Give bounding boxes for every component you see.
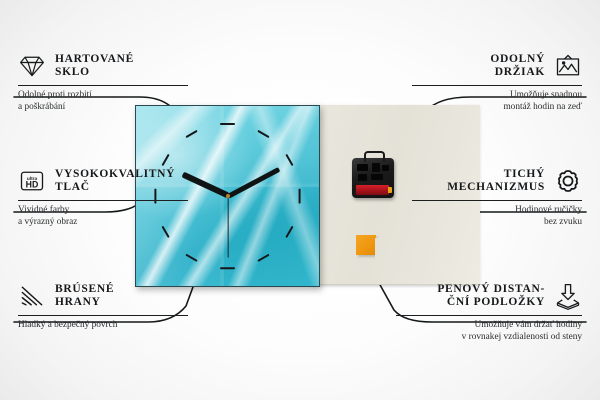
feature-title: VYSOKOKVALITNÝ TLAČ <box>55 168 175 195</box>
mechanism-slot <box>372 163 380 172</box>
feature-ground-edges: BRÚSENÉ HRANY Hladký a bezpečný povrch <box>18 282 188 332</box>
clock-mechanism <box>352 158 394 198</box>
feature-title: TICHÝ MECHANIZMUS <box>447 168 545 195</box>
feature-description: Hodinové ručičky bez zvuku <box>412 205 582 228</box>
feature-hardened-glass: HARTOVANÉ SKLO Odolné proti rozbití a po… <box>18 52 188 113</box>
feature-title-line: VYSOKOKVALITNÝ <box>55 168 175 182</box>
divider <box>18 200 188 201</box>
mechanism-slot <box>382 165 389 171</box>
feature-desc-line: Vividné farby <box>18 205 188 217</box>
feature-desc-line: v rovnakej vzdialenosti od steny <box>396 332 582 344</box>
feature-title: PENOVÝ DISTAN- ČNÍ PODLOŽKY <box>437 283 545 310</box>
divider <box>412 200 582 201</box>
feature-title-line: TLAČ <box>55 181 175 195</box>
feature-desc-line: montáž hodin na zeď <box>412 102 582 114</box>
mechanism-hanger <box>364 151 385 162</box>
picture-frame-hook-icon <box>554 52 582 80</box>
divider <box>412 85 582 86</box>
diamond-icon <box>18 52 46 80</box>
feature-title-line: HRANY <box>55 296 114 310</box>
feature-title-line: ODOLNÝ <box>490 53 545 67</box>
ultra-hd-icon: ultra HD <box>18 167 46 195</box>
feature-desc-line: a poškrábání <box>18 102 188 114</box>
feature-high-quality-print: ultra HD VYSOKOKVALITNÝ TLAČ Vividné far… <box>18 167 188 228</box>
feature-desc-line: Umožňuje vám držať hodiny <box>396 320 582 332</box>
feature-title-line: PENOVÝ DISTAN- <box>437 283 545 297</box>
feature-title: HARTOVANÉ SKLO <box>55 53 134 80</box>
feature-header: ultra HD VYSOKOKVALITNÝ TLAČ <box>18 167 188 195</box>
feature-header: PENOVÝ DISTAN- ČNÍ PODLOŽKY <box>396 282 582 310</box>
mechanism-slot <box>358 174 367 181</box>
divider <box>18 85 188 86</box>
hour-mark <box>220 267 235 269</box>
feature-silent-mechanism: TICHÝ MECHANIZMUS Hodinové ručičky bez z… <box>412 167 582 228</box>
feature-durable-holder: ODOLNÝ DRŽIAK Umožňuje snadnou montáž ho… <box>412 52 582 113</box>
foam-spacer-pad <box>356 235 376 255</box>
feature-header: ODOLNÝ DRŽIAK <box>412 52 582 80</box>
feature-header: BRÚSENÉ HRANY <box>18 282 188 310</box>
feature-title-line: ČNÍ PODLOŽKY <box>437 296 545 310</box>
feature-desc-line: a výrazný obraz <box>18 217 188 229</box>
feature-title-line: BRÚSENÉ <box>55 283 114 297</box>
product-infographic: HARTOVANÉ SKLO Odolné proti rozbití a po… <box>0 0 600 400</box>
feature-desc-line: Hladký a bezpečný povrch <box>18 320 188 332</box>
feature-desc-line: Odolné proti rozbití <box>18 90 188 102</box>
feature-title: ODOLNÝ DRŽIAK <box>490 53 545 80</box>
feature-description: Umožňuje snadnou montáž hodin na zeď <box>412 90 582 113</box>
feature-title-line: MECHANIZMUS <box>447 181 545 195</box>
feature-foam-spacers: PENOVÝ DISTAN- ČNÍ PODLOŽKY Umožňuje vám… <box>396 282 582 343</box>
feature-description: Vividné farby a výrazný obraz <box>18 205 188 228</box>
feature-title-line: SKLO <box>55 66 134 80</box>
feature-header: TICHÝ MECHANIZMUS <box>412 167 582 195</box>
feature-description: Umožňuje vám držať hodiny v rovnakej vzd… <box>396 320 582 343</box>
feature-desc-line: bez zvuku <box>412 217 582 229</box>
down-arrow-stack-icon <box>554 282 582 310</box>
mechanism-slot <box>357 164 368 171</box>
hour-mark <box>298 188 300 203</box>
hour-mark <box>220 123 235 125</box>
feature-title-line: HARTOVANÉ <box>55 53 134 67</box>
gear-icon <box>554 167 582 195</box>
mechanism-slot <box>371 174 383 180</box>
feature-title-line: DRŽIAK <box>490 66 545 80</box>
feature-desc-line: Umožňuje snadnou <box>412 90 582 102</box>
battery <box>356 185 389 195</box>
feature-description: Hladký a bezpečný povrch <box>18 320 188 332</box>
divider <box>396 315 582 316</box>
second-hand <box>227 196 228 258</box>
diagonal-lines-icon <box>18 282 46 310</box>
feature-header: HARTOVANÉ SKLO <box>18 52 188 80</box>
divider <box>18 315 188 316</box>
hd-label: HD <box>26 180 39 190</box>
hand-cap <box>226 194 230 198</box>
feature-description: Odolné proti rozbití a poškrábání <box>18 90 188 113</box>
feature-title: BRÚSENÉ HRANY <box>55 283 114 310</box>
feature-desc-line: Hodinové ručičky <box>412 205 582 217</box>
feature-title-line: TICHÝ <box>447 168 545 182</box>
